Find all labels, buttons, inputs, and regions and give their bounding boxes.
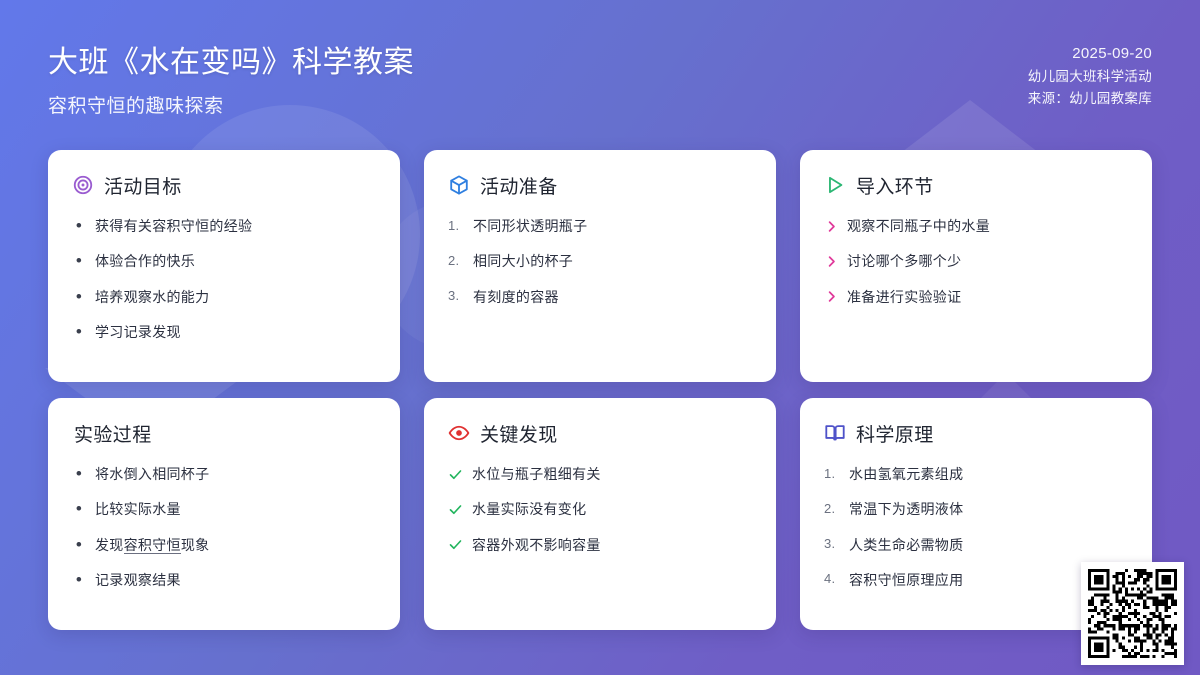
chevron-right-icon — [824, 216, 838, 236]
list-marker-bullet: • — [72, 535, 86, 555]
list-item: 2.常温下为透明液体 — [824, 499, 1128, 519]
card-title: 科学原理 — [856, 420, 934, 447]
list-item-label: 发现容积守恒现象 — [95, 535, 376, 555]
card-header: 科学原理 — [824, 420, 1128, 446]
card-5: 关键发现水位与瓶子粗细有关水量实际没有变化容器外观不影响容量 — [424, 398, 776, 630]
card-item-list: 水位与瓶子粗细有关水量实际没有变化容器外观不影响容量 — [448, 464, 752, 555]
list-item: 水量实际没有变化 — [448, 499, 752, 519]
list-item: 准备进行实验验证 — [824, 287, 1128, 307]
title-block: 大班《水在变吗》科学教案 容积守恒的趣味探索 — [48, 44, 414, 118]
list-item: 3.人类生命必需物质 — [824, 535, 1128, 555]
page-subtitle: 容积守恒的趣味探索 — [48, 91, 414, 118]
list-item-label: 不同形状透明瓶子 — [473, 216, 752, 236]
card-header: 导入环节 — [824, 172, 1128, 198]
list-item: •培养观察水的能力 — [72, 287, 376, 307]
card-item-list: 观察不同瓶子中的水量讨论哪个多哪个少准备进行实验验证 — [824, 216, 1128, 307]
list-marker-bullet: • — [72, 322, 86, 342]
header-meta: 2025-09-20 幼儿园大班科学活动 来源：幼儿园教案库 — [1028, 42, 1152, 110]
card-header: 实验过程 — [72, 420, 376, 446]
list-item-label: 准备进行实验验证 — [847, 287, 1128, 307]
card-4: 实验过程•将水倒入相同杯子•比较实际水量•发现容积守恒现象•记录观察结果 — [48, 398, 400, 630]
card-grid: 活动目标•获得有关容积守恒的经验•体验合作的快乐•培养观察水的能力•学习记录发现… — [48, 150, 1152, 630]
list-marker-number: 3. — [448, 287, 464, 307]
list-item-label: 容器外观不影响容量 — [472, 535, 752, 555]
check-icon — [448, 535, 463, 555]
meta-date: 2025-09-20 — [1028, 42, 1152, 66]
list-item-label: 人类生命必需物质 — [849, 535, 1128, 555]
card-header: 活动目标 — [72, 172, 376, 198]
card-item-list: •获得有关容积守恒的经验•体验合作的快乐•培养观察水的能力•学习记录发现 — [72, 216, 376, 342]
list-marker-bullet: • — [72, 251, 86, 271]
list-item-label: 学习记录发现 — [95, 322, 376, 342]
list-item-label: 相同大小的杯子 — [473, 251, 752, 271]
chevron-right-icon — [824, 251, 838, 271]
list-item-label: 水位与瓶子粗细有关 — [472, 464, 752, 484]
card-title: 实验过程 — [74, 420, 152, 447]
keyword-highlight: 容积守恒 — [124, 537, 181, 554]
list-item: 讨论哪个多哪个少 — [824, 251, 1128, 271]
list-item-label: 水由氢氧元素组成 — [849, 464, 1128, 484]
card-title: 关键发现 — [480, 420, 558, 447]
list-marker-number: 4. — [824, 570, 840, 590]
check-icon — [448, 464, 463, 484]
meta-category: 幼儿园大班科学活动 — [1028, 66, 1152, 88]
list-item: •发现容积守恒现象 — [72, 535, 376, 555]
card-item-list: 1.不同形状透明瓶子2.相同大小的杯子3.有刻度的容器 — [448, 216, 752, 307]
list-item-label: 常温下为透明液体 — [849, 499, 1128, 519]
list-item-label: 讨论哪个多哪个少 — [847, 251, 1128, 271]
page-title: 大班《水在变吗》科学教案 — [48, 44, 414, 82]
list-item: 3.有刻度的容器 — [448, 287, 752, 307]
list-item-label: 水量实际没有变化 — [472, 499, 752, 519]
list-item: •将水倒入相同杯子 — [72, 464, 376, 484]
card-title: 活动目标 — [104, 172, 182, 199]
list-item-label: 观察不同瓶子中的水量 — [847, 216, 1128, 236]
list-item: 1.水由氢氧元素组成 — [824, 464, 1128, 484]
qr-code-image — [1088, 569, 1177, 658]
list-item-label: 培养观察水的能力 — [95, 287, 376, 307]
open-book-icon — [824, 422, 846, 444]
card-header: 活动准备 — [448, 172, 752, 198]
list-item-label: 将水倒入相同杯子 — [95, 464, 376, 484]
list-item-label: 有刻度的容器 — [473, 287, 752, 307]
list-marker-bullet: • — [72, 499, 86, 519]
list-marker-number: 2. — [824, 499, 840, 519]
list-item: •比较实际水量 — [72, 499, 376, 519]
target-icon — [72, 174, 94, 196]
list-item-label: 比较实际水量 — [95, 499, 376, 519]
qr-code[interactable] — [1081, 562, 1184, 665]
list-marker-bullet: • — [72, 287, 86, 307]
list-item: •记录观察结果 — [72, 570, 376, 590]
card-1: 活动目标•获得有关容积守恒的经验•体验合作的快乐•培养观察水的能力•学习记录发现 — [48, 150, 400, 382]
card-2: 活动准备1.不同形状透明瓶子2.相同大小的杯子3.有刻度的容器 — [424, 150, 776, 382]
chevron-right-icon — [824, 287, 838, 307]
list-marker-number: 1. — [448, 216, 464, 236]
card-item-list: •将水倒入相同杯子•比较实际水量•发现容积守恒现象•记录观察结果 — [72, 464, 376, 590]
slide-header: 大班《水在变吗》科学教案 容积守恒的趣味探索 2025-09-20 幼儿园大班科… — [0, 0, 1200, 150]
list-item: 2.相同大小的杯子 — [448, 251, 752, 271]
list-marker-number: 3. — [824, 535, 840, 555]
list-item: 水位与瓶子粗细有关 — [448, 464, 752, 484]
list-item: •获得有关容积守恒的经验 — [72, 216, 376, 236]
card-3: 导入环节观察不同瓶子中的水量讨论哪个多哪个少准备进行实验验证 — [800, 150, 1152, 382]
slide-root: 大班《水在变吗》科学教案 容积守恒的趣味探索 2025-09-20 幼儿园大班科… — [0, 0, 1200, 675]
list-item-label: 获得有关容积守恒的经验 — [95, 216, 376, 236]
list-marker-bullet: • — [72, 464, 86, 484]
list-item: 观察不同瓶子中的水量 — [824, 216, 1128, 236]
list-marker-bullet: • — [72, 570, 86, 590]
cube-icon — [448, 174, 470, 196]
card-title: 导入环节 — [856, 172, 934, 199]
play-triangle-icon — [824, 174, 846, 196]
list-marker-number: 1. — [824, 464, 840, 484]
meta-source: 来源：幼儿园教案库 — [1028, 88, 1152, 110]
list-item: 1.不同形状透明瓶子 — [448, 216, 752, 236]
list-item-label: 体验合作的快乐 — [95, 251, 376, 271]
list-item-label: 记录观察结果 — [95, 570, 376, 590]
list-item: 容器外观不影响容量 — [448, 535, 752, 555]
list-marker-bullet: • — [72, 216, 86, 236]
card-header: 关键发现 — [448, 420, 752, 446]
check-icon — [448, 499, 463, 519]
list-item: •体验合作的快乐 — [72, 251, 376, 271]
card-title: 活动准备 — [480, 172, 558, 199]
list-item: •学习记录发现 — [72, 322, 376, 342]
list-marker-number: 2. — [448, 251, 464, 271]
eye-icon — [448, 422, 470, 444]
